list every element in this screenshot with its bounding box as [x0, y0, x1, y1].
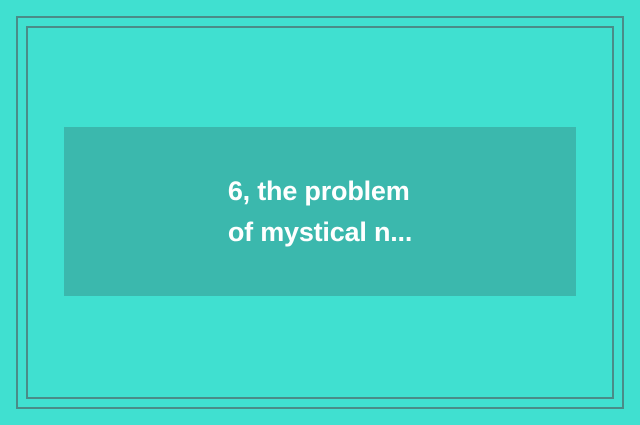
caption-panel: 6, the problem of mystical n... — [64, 127, 576, 296]
image-canvas: 6, the problem of mystical n... — [0, 0, 640, 425]
caption-line-2: of mystical n... — [228, 212, 412, 253]
caption-text-block: 6, the problem of mystical n... — [228, 171, 412, 253]
caption-line-1: 6, the problem — [228, 171, 412, 212]
